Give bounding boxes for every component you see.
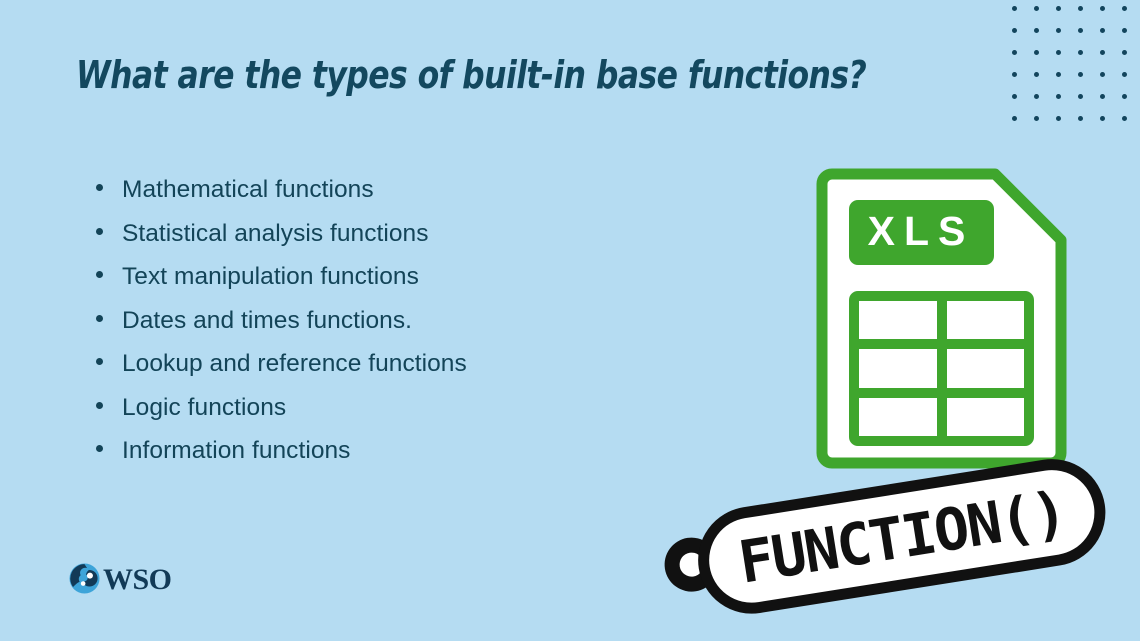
list-item: Information functions xyxy=(96,437,716,481)
bullet-point-icon xyxy=(96,271,103,278)
grid-dot xyxy=(1100,28,1105,33)
grid-dot xyxy=(1078,116,1083,121)
grid-dot xyxy=(1012,116,1017,121)
grid-dot xyxy=(1100,72,1105,77)
bullet-point-icon xyxy=(96,445,103,452)
grid-dot xyxy=(1056,28,1061,33)
grid-dot xyxy=(1122,28,1127,33)
bullet-point-icon xyxy=(96,315,103,322)
page-title: What are the types of built-in base func… xyxy=(76,53,858,97)
grid-dot xyxy=(1100,94,1105,99)
grid-dot xyxy=(1056,116,1061,121)
slide-canvas: What are the types of built-in base func… xyxy=(0,0,1140,641)
bullet-point-icon xyxy=(96,228,103,235)
dot-grid-pattern xyxy=(1012,6,1136,130)
list-item: Statistical analysis functions xyxy=(96,220,716,264)
grid-dot xyxy=(1122,6,1127,11)
grid-dot xyxy=(1056,72,1061,77)
grid-dot xyxy=(1100,50,1105,55)
list-item-label: Statistical analysis functions xyxy=(122,220,429,248)
grid-dot xyxy=(1034,6,1039,11)
list-item-label: Logic functions xyxy=(122,394,286,422)
grid-dot xyxy=(1012,28,1017,33)
wso-globe-icon xyxy=(69,563,100,594)
grid-dot xyxy=(1034,94,1039,99)
bullet-point-icon xyxy=(96,184,103,191)
bullet-point-icon xyxy=(96,402,103,409)
wso-wordmark: WSO xyxy=(103,565,172,595)
grid-dot xyxy=(1056,6,1061,11)
grid-dot xyxy=(1078,72,1083,77)
grid-dot xyxy=(1122,94,1127,99)
grid-dot xyxy=(1012,94,1017,99)
grid-dot xyxy=(1056,50,1061,55)
wso-logo[interactable]: WSO xyxy=(69,563,172,594)
grid-dot xyxy=(1078,6,1083,11)
grid-dot xyxy=(1100,6,1105,11)
grid-dot xyxy=(1012,6,1017,11)
list-item: Logic functions xyxy=(96,394,716,438)
xls-badge-label: XLS xyxy=(868,208,975,254)
grid-dot xyxy=(1034,28,1039,33)
list-item: Mathematical functions xyxy=(96,176,716,220)
function-types-list: Mathematical functions Statistical analy… xyxy=(96,176,716,481)
grid-dot xyxy=(1122,72,1127,77)
grid-dot xyxy=(1122,116,1127,121)
grid-dot xyxy=(1078,28,1083,33)
grid-dot xyxy=(1034,72,1039,77)
grid-dot xyxy=(1056,94,1061,99)
grid-dot xyxy=(1122,50,1127,55)
grid-dot xyxy=(1034,116,1039,121)
grid-dot xyxy=(1100,116,1105,121)
grid-dot xyxy=(1012,72,1017,77)
function-tag: FUNCTION() xyxy=(657,455,1127,635)
list-item: Text manipulation functions xyxy=(96,263,716,307)
bullet-point-icon xyxy=(96,358,103,365)
list-item-label: Text manipulation functions xyxy=(122,263,419,291)
xls-spreadsheet-icon: XLS xyxy=(812,163,1072,475)
list-item-label: Information functions xyxy=(122,437,350,465)
grid-dot xyxy=(1078,94,1083,99)
list-item-label: Mathematical functions xyxy=(122,176,374,204)
list-item-label: Lookup and reference functions xyxy=(122,350,467,378)
grid-dot xyxy=(1012,50,1017,55)
list-item: Dates and times functions. xyxy=(96,307,716,351)
list-item: Lookup and reference functions xyxy=(96,350,716,394)
list-item-label: Dates and times functions. xyxy=(122,307,412,335)
grid-dot xyxy=(1078,50,1083,55)
grid-dot xyxy=(1034,50,1039,55)
